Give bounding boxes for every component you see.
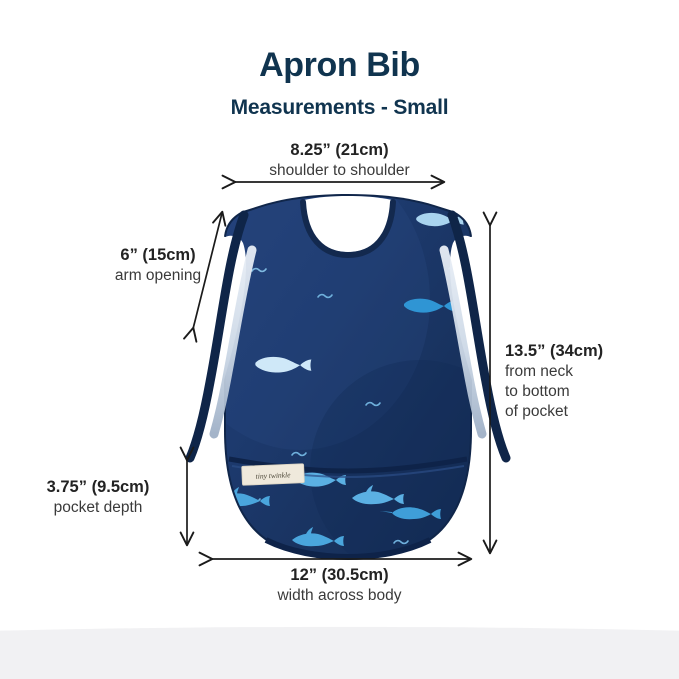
pocket-depth-description: pocket depth: [18, 498, 178, 518]
label-arm-opening: 6” (15cm) arm opening: [63, 245, 253, 286]
neckline-opening: [304, 196, 392, 252]
width-across-body-value: 12” (30.5cm): [0, 565, 679, 586]
page-subtitle: Measurements - Small: [0, 96, 679, 120]
shoulder-to-shoulder-description: shoulder to shoulder: [0, 161, 679, 181]
pocket-seam: [229, 459, 467, 471]
page-title: Apron Bib: [0, 46, 679, 85]
neckline-binding: [303, 202, 393, 255]
arm-opening-description: arm opening: [63, 266, 253, 286]
right-armhole-binding: [452, 215, 506, 458]
label-width-across-body: 12” (30.5cm) width across body: [0, 565, 679, 606]
measurement-diagram: Apron Bib Measurements - Small: [0, 0, 679, 679]
neck-to-bottom-value: 13.5” (34cm): [505, 341, 675, 362]
pocket-seam-highlight: [232, 466, 464, 477]
right-armhole-piping: [444, 250, 482, 434]
pocket-area: [230, 438, 466, 473]
neck-to-bottom-description-line1: from neck: [505, 362, 675, 382]
pocket-depth-value: 3.75” (9.5cm): [18, 477, 178, 498]
arm-opening-value: 6” (15cm): [63, 245, 253, 266]
dimension-arrows: [187, 182, 490, 559]
bib-outer-binding: [224, 194, 472, 559]
bib-body: [226, 196, 470, 557]
brand-label-text: tiny twinkle: [255, 470, 291, 481]
shoulder-to-shoulder-value: 8.25” (21cm): [0, 140, 679, 161]
label-shoulder-to-shoulder: 8.25” (21cm) shoulder to shoulder: [0, 140, 679, 181]
bottom-curved-band: [0, 600, 679, 679]
brand-label-tag: tiny twinkle: [242, 464, 305, 486]
label-pocket-depth: 3.75” (9.5cm) pocket depth: [18, 477, 178, 518]
neck-to-bottom-description-line3: of pocket: [505, 402, 675, 422]
width-across-body-description: width across body: [0, 586, 679, 606]
bottom-hem: [266, 540, 430, 557]
neck-to-bottom-description-line2: to bottom: [505, 382, 675, 402]
label-neck-to-bottom-of-pocket: 13.5” (34cm) from neck to bottom of pock…: [505, 341, 675, 422]
